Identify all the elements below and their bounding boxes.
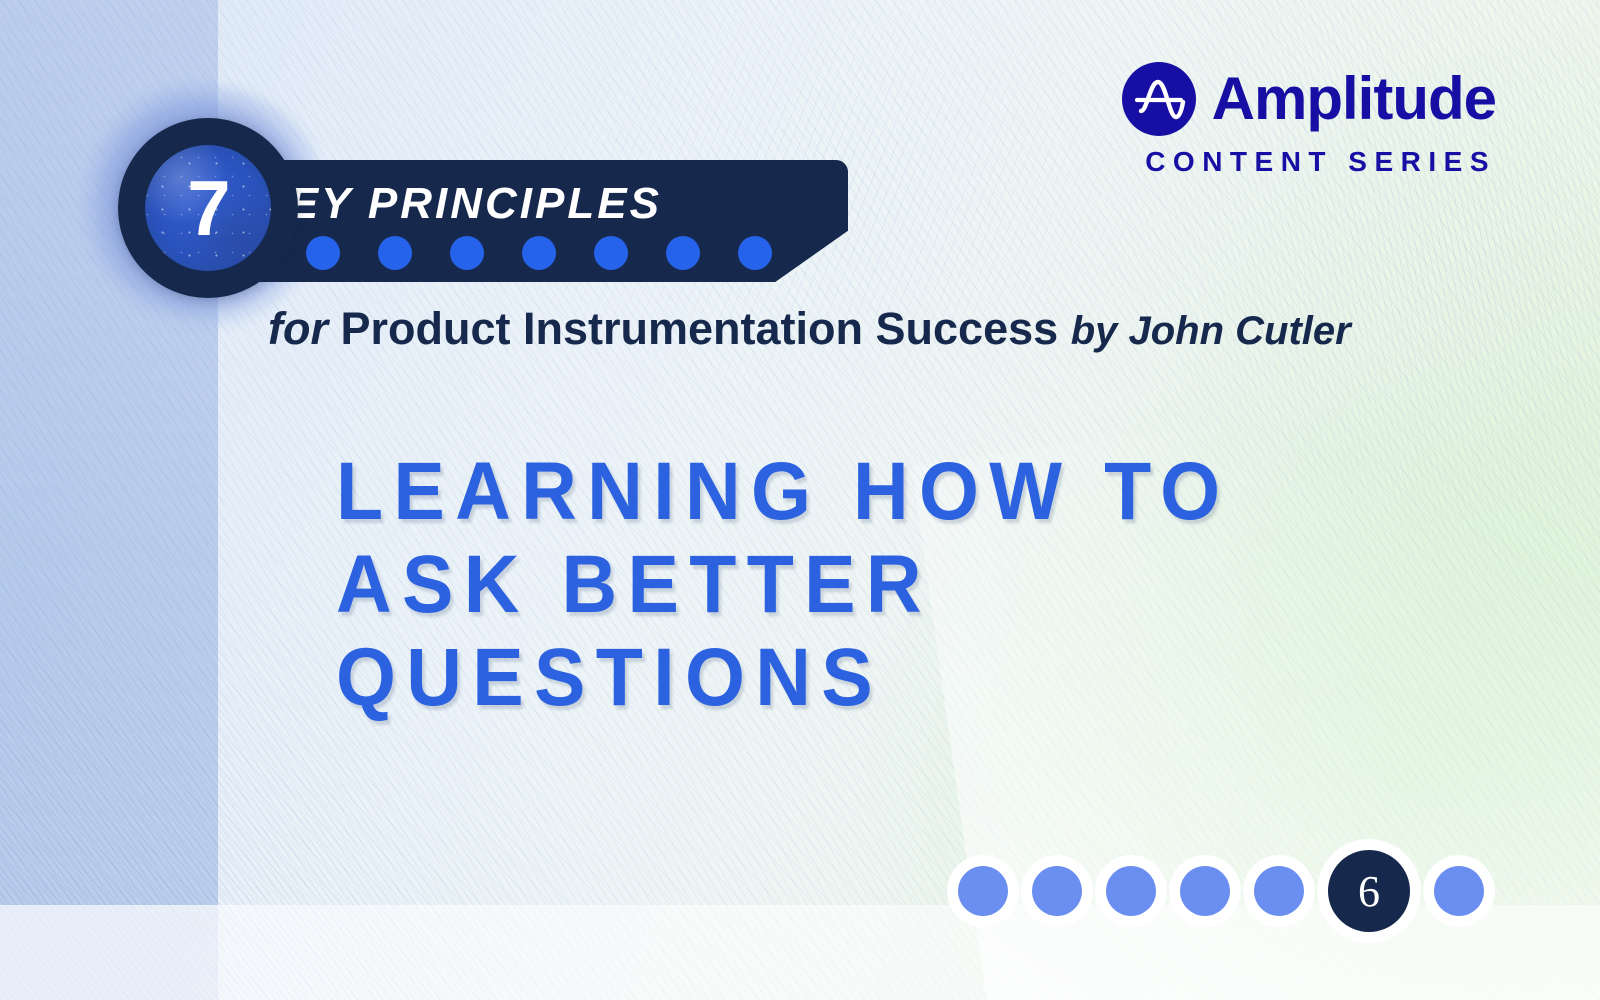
subtitle-lead: for <box>268 303 328 354</box>
key-principles-badge: KEY PRINCIPLES 7 <box>92 96 772 311</box>
number-seal: 7 <box>118 118 298 298</box>
headline-line-3: QUESTIONS <box>336 631 1445 724</box>
amplitude-wordmark: Amplitude <box>1212 69 1496 129</box>
subtitle-byline: by John Cutler <box>1071 309 1351 353</box>
pagination-dot-current[interactable]: 6 <box>1328 850 1410 932</box>
subtitle-main: Product Instrumentation Success <box>341 303 1059 354</box>
banner-dot <box>378 236 412 270</box>
pagination-dot-7[interactable] <box>1434 866 1484 916</box>
banner-dot <box>594 236 628 270</box>
pagination-dot-1[interactable] <box>958 866 1008 916</box>
banner-dot <box>666 236 700 270</box>
amplitude-logo-icon <box>1122 62 1196 136</box>
badge-number: 7 <box>187 169 228 247</box>
banner-dot <box>306 236 340 270</box>
amplitude-brand-lockup: Amplitude CONTENT SERIES <box>1122 62 1496 178</box>
pagination-dot-4[interactable] <box>1180 866 1230 916</box>
logo-row: Amplitude <box>1122 62 1496 136</box>
pagination: 6 <box>958 846 1484 936</box>
banner-dot <box>522 236 556 270</box>
banner-dot-row <box>306 236 772 270</box>
headline-line-1: LEARNING HOW TO <box>336 445 1445 538</box>
subtitle: for Product Instrumentation Success by J… <box>268 306 1351 351</box>
banner-dot <box>450 236 484 270</box>
pagination-dot-3[interactable] <box>1106 866 1156 916</box>
slide-canvas: KEY PRINCIPLES 7 for Product Instrumenta… <box>0 0 1600 1000</box>
background-bottom-band-left <box>0 905 218 1000</box>
pagination-dot-5[interactable] <box>1254 866 1304 916</box>
content-series-label: CONTENT SERIES <box>1145 146 1496 178</box>
pagination-dot-2[interactable] <box>1032 866 1082 916</box>
page-title: LEARNING HOW TO ASK BETTER QUESTIONS <box>336 445 1516 724</box>
number-seal-inner: 7 <box>145 145 271 271</box>
headline-line-2: ASK BETTER <box>336 538 1445 631</box>
banner-dot <box>738 236 772 270</box>
